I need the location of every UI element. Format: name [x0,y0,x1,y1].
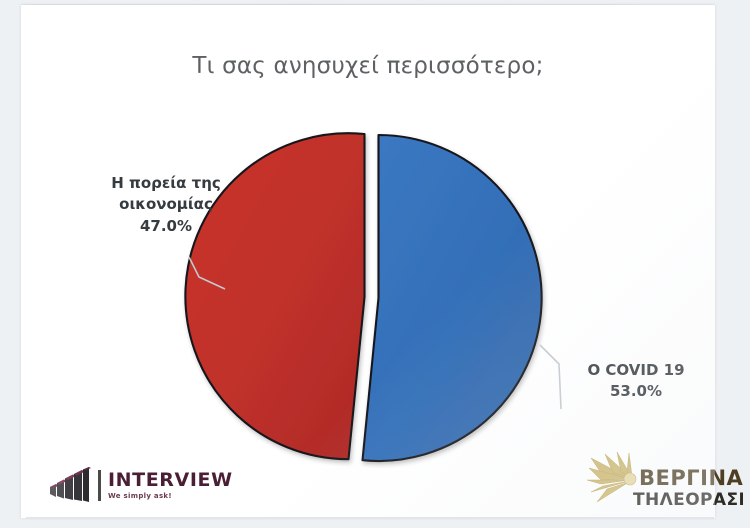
slice-label-covid: Ο COVID 19 53.0% [556,360,716,403]
interview-logo-divider [98,470,101,501]
slice-value-covid: 53.0% [556,381,716,402]
interview-logo-tagline: We simply ask! [108,493,233,500]
pie-slice-covid[interactable] [363,135,542,461]
vergina-logo-subtitle: ΤΗΛΕΟΡΑΣΗ [633,490,743,510]
screenshot-root: Τι σας ανησυχεί περισσότερο; [0,0,750,528]
pie-chart [21,5,715,518]
slice-label-economy-line2: οικονομίας [119,195,213,213]
slice-label-covid-line1: Ο COVID 19 [587,361,684,379]
vergina-sun-center [624,473,636,485]
vergina-logo: ΒΕΡΓΙΝΑ ΤΗΛΕΟΡΑΣΗ [583,452,743,514]
card-bottom-edge [26,517,714,519]
slice-label-economy: Η πορεία της οικονομίας 47.0% [81,173,251,237]
vergina-logo-name: ΒΕΡΓΙΝΑ [639,466,743,490]
interview-bars-icon [48,467,95,503]
vergina-logo-svg: ΒΕΡΓΙΝΑ ΤΗΛΕΟΡΑΣΗ [583,452,743,514]
interview-logo-text: INTERVIEW We simply ask! [108,471,233,500]
interview-logo-name: INTERVIEW [108,471,233,490]
slice-value-economy: 47.0% [81,216,251,237]
slice-label-economy-line1: Η πορεία της [111,174,221,192]
pie-chart-svg [21,5,715,518]
interview-logo: INTERVIEW We simply ask! [48,461,248,509]
slide-card: Τι σας ανησυχεί περισσότερο; [21,5,715,518]
